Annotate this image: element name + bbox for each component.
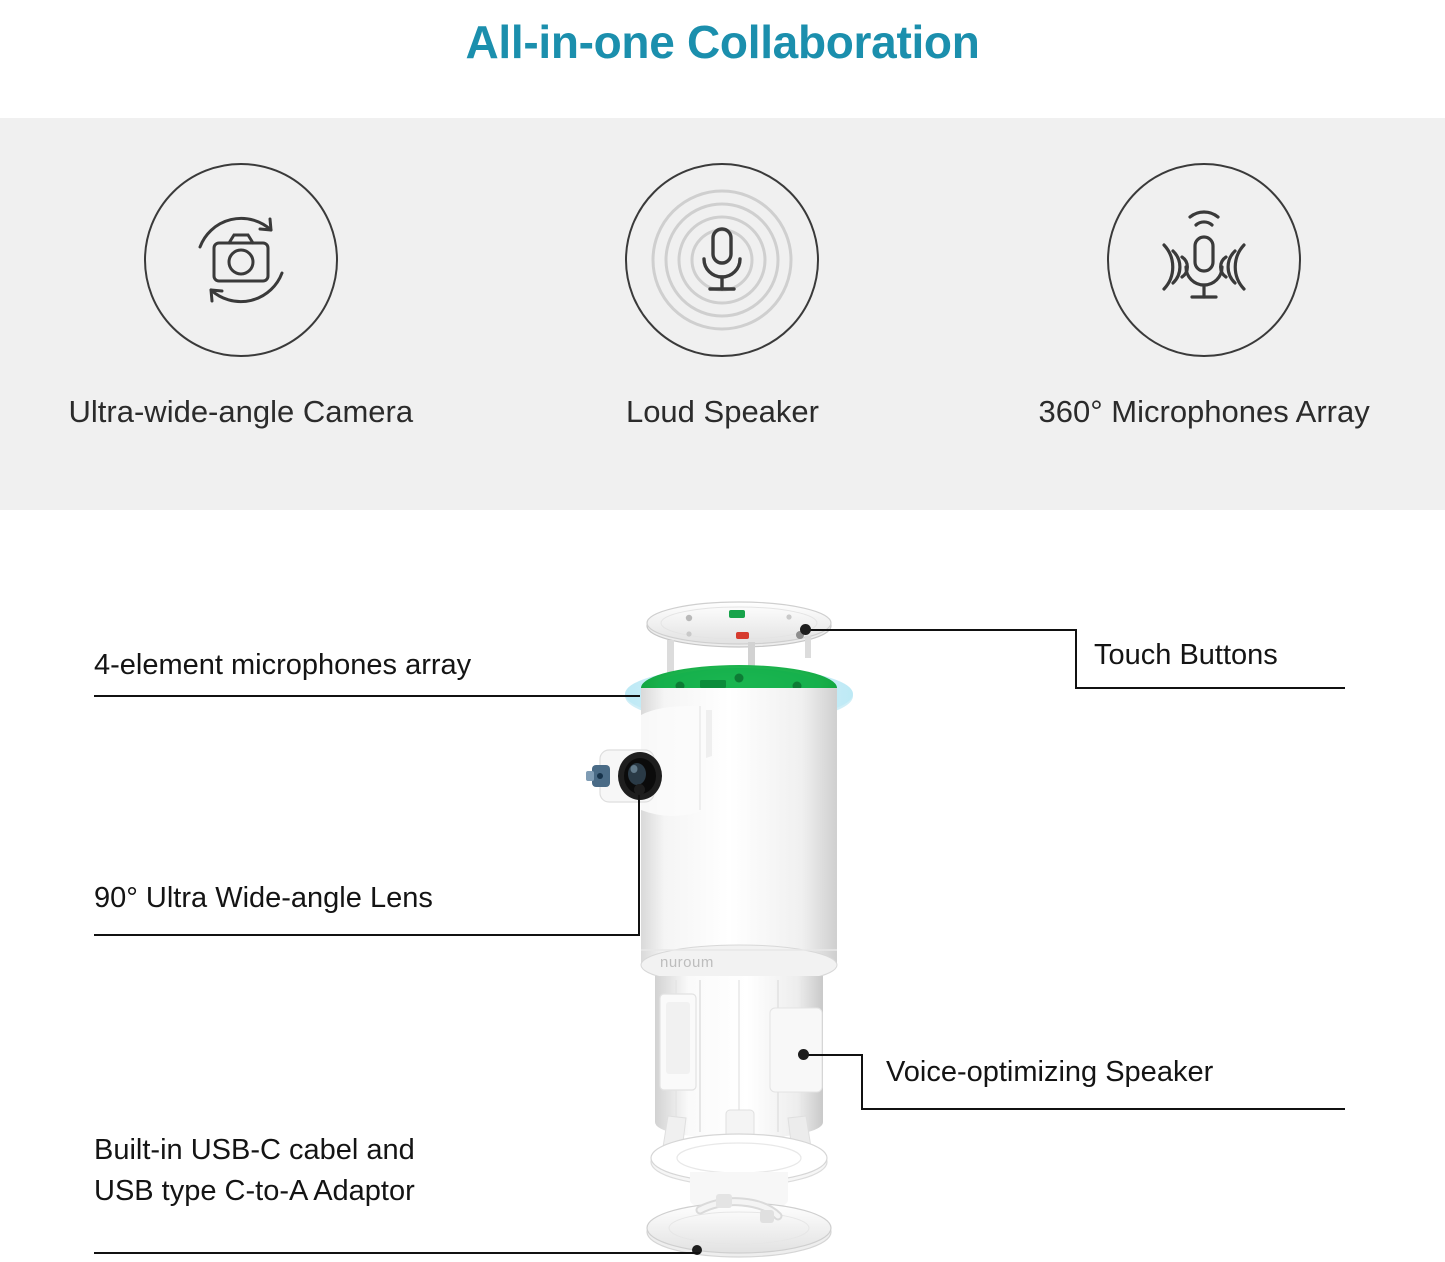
leader-line-speaker-2 — [805, 1054, 863, 1056]
leader-line-touch-buttons-v — [1075, 629, 1077, 689]
callout-label-wide-angle-lens: 90° Ultra Wide-angle Lens — [94, 878, 433, 919]
feature-360-microphones-array: 360° Microphones Array — [994, 163, 1414, 433]
leader-dot-wide-angle-lens — [634, 784, 645, 795]
page-title: All-in-one Collaboration — [465, 15, 979, 69]
callout-label-usb-cable-line1: Built-in USB-C cabel and — [94, 1130, 415, 1171]
callout-label-usb-cable-line2: USB type C-to-A Adaptor — [94, 1171, 415, 1212]
leader-dot-speaker — [798, 1049, 809, 1060]
device-body: nuroum — [641, 688, 837, 985]
callout-label-speaker: Voice-optimizing Speaker — [886, 1052, 1213, 1093]
leader-line-touch-buttons-2 — [805, 629, 1077, 631]
product-diagram: nuroum — [0, 510, 1445, 1262]
leader-line-wide-angle-lens — [94, 934, 640, 936]
leader-line-speaker — [861, 1108, 1345, 1110]
feature-bar: Ultra-wide-angle Camera — [0, 118, 1445, 510]
feature-label: 360° Microphones Array — [1039, 391, 1370, 433]
callout-label-usb-cable: Built-in USB-C cabel and USB type C-to-A… — [94, 1130, 415, 1212]
feature-icon-circle — [625, 163, 819, 357]
leader-line-touch-buttons — [1075, 687, 1345, 689]
feature-icon-circle — [144, 163, 338, 357]
speaker-waves-icon — [647, 185, 797, 335]
feature-ultra-wide-angle-camera: Ultra-wide-angle Camera — [31, 163, 451, 433]
feature-icon-circle — [1107, 163, 1301, 357]
leader-dot-touch-buttons — [800, 624, 811, 635]
feature-label: Loud Speaker — [626, 391, 819, 433]
microphone-360-icon — [1129, 185, 1279, 335]
feature-loud-speaker: Loud Speaker — [512, 163, 932, 433]
page-header: All-in-one Collaboration — [0, 0, 1445, 118]
leader-line-microphones-array — [94, 695, 640, 697]
leader-line-wide-angle-lens-v — [638, 790, 640, 935]
leader-line-speaker-v — [861, 1054, 863, 1110]
leader-line-usb-cable — [94, 1252, 700, 1254]
callout-label-microphones-array: 4-element microphones array — [94, 645, 471, 686]
camera-module — [586, 750, 662, 802]
feature-label: Ultra-wide-angle Camera — [69, 391, 414, 433]
svg-text:nuroum: nuroum — [660, 954, 714, 971]
camera-rotate-icon — [176, 195, 306, 325]
callout-label-touch-buttons: Touch Buttons — [1094, 635, 1278, 676]
bottom-plate-usb — [647, 1194, 831, 1257]
